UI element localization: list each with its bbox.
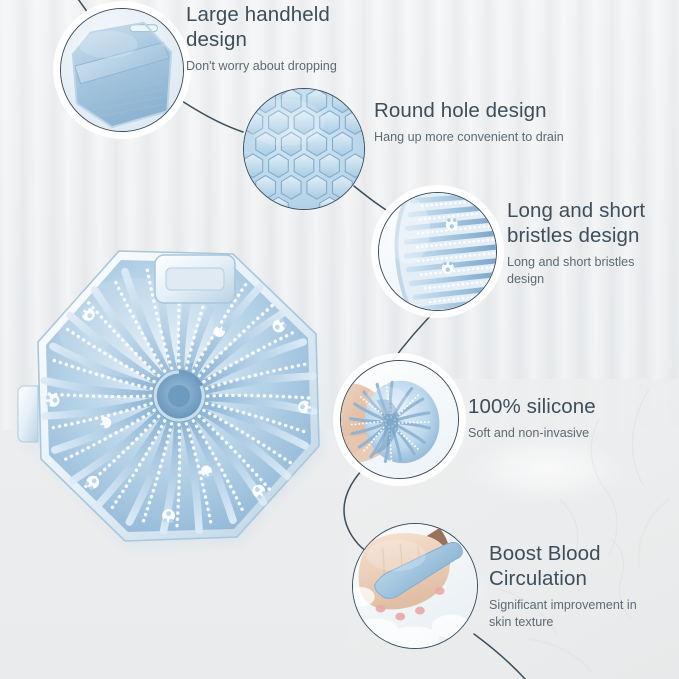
callout-circle-large-handheld-design [60,8,184,132]
feature-text-large-handheld-design: Large handheld design Don't worry about … [186,2,426,75]
connector-c5-to-edge [474,634,526,679]
honeycomb-texture-closeup-photo [244,89,364,209]
bristles-side-profile-photo [379,193,496,310]
feature-title: Large handheld design [186,2,426,52]
brush-side-tab [18,386,38,442]
callout-circle-100-percent-silicone [340,360,459,479]
feature-subtitle: Don't worry about dropping [186,58,426,75]
feature-text-round-hole-design: Round hole design Hang up more convenien… [374,98,664,146]
hand-squeezing-brush-photo [341,361,458,478]
feature-subtitle: Soft and non-invasive [468,425,668,442]
feature-subtitle: Long and short bristles design [507,254,679,287]
feature-title: Long and short bristles design [507,198,679,248]
brush-back-handle-strap-photo [61,9,183,131]
feature-title: Round hole design [374,98,664,123]
feature-text-long-and-short-bristles: Long and short bristles design Long and … [507,198,679,287]
connector-c1-to-c2 [182,101,243,132]
connector-c2-to-c3 [354,186,391,213]
feature-text-boost-blood-circulation: Boost Blood Circulation Significant impr… [489,541,674,630]
hero-product-image [16,238,346,568]
callout-circle-round-hole-design [243,88,365,210]
feature-subtitle: Hang up more convenient to drain [374,129,664,146]
brush-center-swirl [153,370,205,422]
connector-c3-to-c4 [390,306,440,364]
hand-gripping-handle-foam-photo [353,524,477,648]
brush-handle-strap [155,255,235,303]
callout-circle-boost-blood-circulation [352,523,478,649]
callout-circle-long-and-short-bristles [378,192,497,311]
feature-subtitle: Significant improvement in skin texture [489,597,674,630]
feature-text-100-percent-silicone: 100% silicone Soft and non-invasive [468,394,668,442]
feature-title: 100% silicone [468,394,668,419]
feature-title: Boost Blood Circulation [489,541,674,591]
